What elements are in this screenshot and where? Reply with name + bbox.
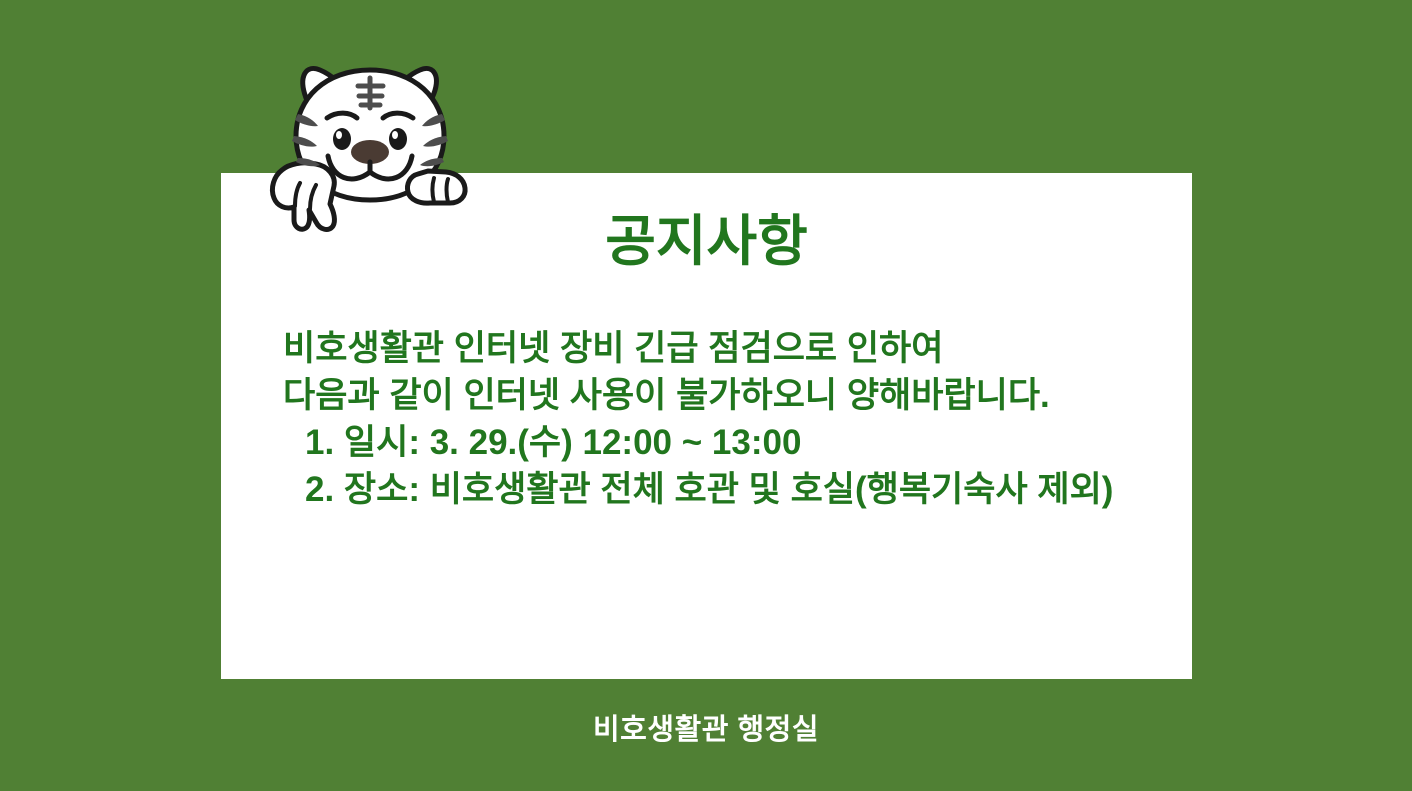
tiger-right-paw-toe-1 (433, 178, 435, 202)
notice-body: 비호생활관 인터넷 장비 긴급 점검으로 인하여 다음과 같이 인터넷 사용이 … (283, 325, 1183, 513)
tiger-right-paw (407, 171, 465, 203)
tiger-right-eye (389, 128, 407, 150)
notice-card: 공지사항 비호생활관 인터넷 장비 긴급 점검으로 인하여 다음과 같이 인터넷… (221, 173, 1192, 679)
tiger-left-eye-highlight (336, 131, 342, 139)
notice-list-item-2: 2. 장소: 비호생활관 전체 호관 및 호실(행복기숙사 제외) (283, 466, 1183, 513)
footer-office-name: 비호생활관 행정실 (0, 706, 1412, 748)
tiger-right-eye-highlight (392, 131, 398, 139)
tiger-left-eye (333, 128, 351, 150)
tiger-left-paw (272, 163, 334, 230)
notice-body-line-2: 다음과 같이 인터넷 사용이 불가하오니 양해바랍니다. (283, 372, 1183, 419)
tiger-right-paw-toe-2 (447, 179, 449, 202)
notice-body-line-1: 비호생활관 인터넷 장비 긴급 점검으로 인하여 (283, 325, 1183, 372)
white-tiger-mascot-icon (262, 52, 478, 232)
notice-poster: 공지사항 비호생활관 인터넷 장비 긴급 점검으로 인하여 다음과 같이 인터넷… (0, 0, 1412, 791)
notice-list-item-1: 1. 일시: 3. 29.(수) 12:00 ~ 13:00 (283, 419, 1183, 466)
